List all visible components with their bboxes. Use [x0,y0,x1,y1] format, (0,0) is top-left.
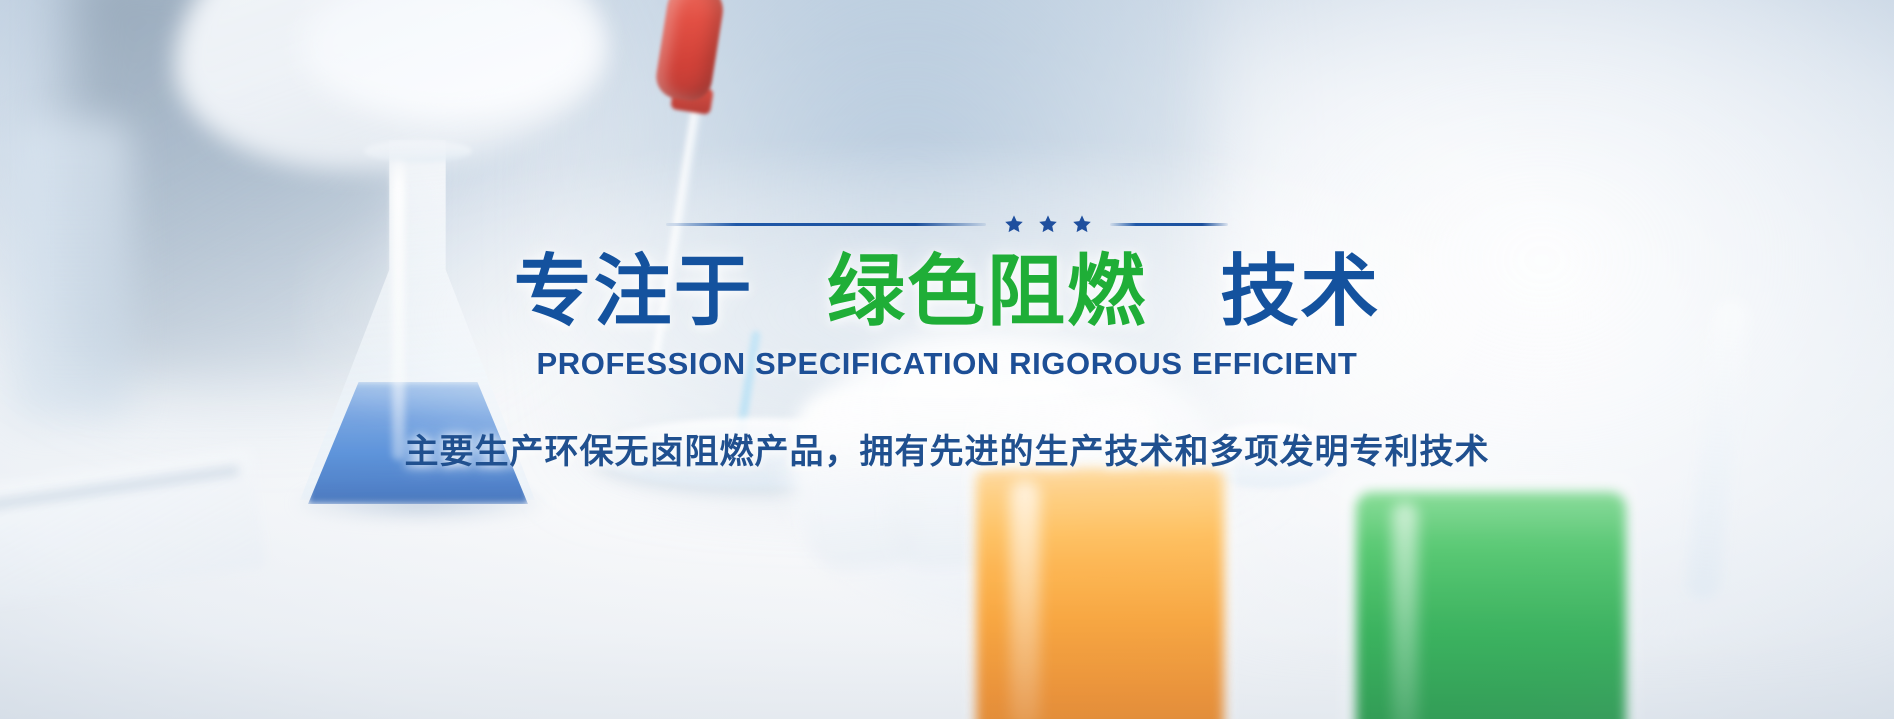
banner-content: 专注于 绿色阻燃 技术 PROFESSION SPECIFICATION RIG… [0,0,1894,719]
banner-tagline-chinese: 主要生产环保无卤阻燃产品，拥有先进的生产技术和多项发明专利技术 [405,424,1490,473]
rule-line-right [1110,223,1228,226]
headline-part-3: 技术 [1220,247,1380,335]
star-icon [1038,214,1058,234]
headline-part-2: 绿色阻燃 [827,247,1147,335]
star-icon [1072,214,1092,234]
banner-headline: 专注于 绿色阻燃 技术 [514,248,1381,335]
headline-part-1: 专注于 [514,247,754,335]
decorative-rule [617,214,1277,234]
rule-line-left [666,223,986,226]
star-group [1004,214,1092,234]
star-icon [1004,214,1024,234]
banner-subtitle-english: PROFESSION SPECIFICATION RIGOROUS EFFICI… [537,346,1358,382]
hero-banner: 专注于 绿色阻燃 技术 PROFESSION SPECIFICATION RIG… [0,0,1894,719]
